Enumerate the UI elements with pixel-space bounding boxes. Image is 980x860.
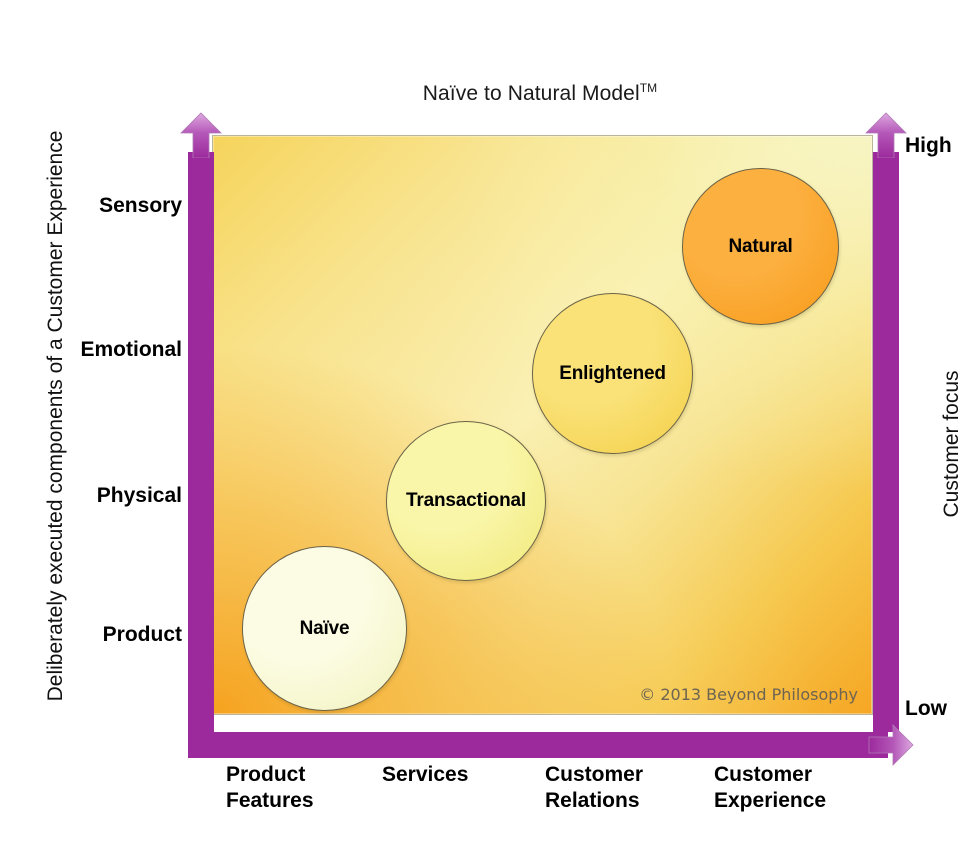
- x-axis-tick-label: ProductFeatures: [226, 762, 376, 814]
- right-axis-caption: Customer focus: [940, 254, 964, 634]
- bubble-label: Naïve: [300, 618, 350, 640]
- x-axis-tick-line: Customer: [714, 762, 899, 788]
- x-axis-tick-label: Services: [382, 762, 532, 788]
- right-axis-bar: [873, 152, 899, 732]
- bubble-nave[interactable]: Naïve: [242, 546, 407, 711]
- y-axis-arrow-up-icon: [180, 112, 222, 158]
- x-axis-tick-line: Product: [226, 762, 376, 788]
- x-axis-tick-labels: ProductFeaturesServicesCustomerRelations…: [212, 762, 892, 832]
- bubble-enlightened[interactable]: Enlightened: [532, 293, 693, 454]
- bubble-label: Transactional: [406, 490, 526, 512]
- bubble-label: Enlightened: [559, 363, 666, 385]
- right-axis-arrow-up-icon: [865, 112, 907, 158]
- page-title: Naïve to Natural ModelTM: [280, 82, 800, 106]
- x-axis-tick-line: Relations: [545, 788, 715, 814]
- plot-area: NaïveTransactionalEnlightenedNatural © 2…: [212, 135, 873, 715]
- y-axis-tick-label: Physical: [2, 484, 182, 508]
- y-axis-tick-label: Product: [2, 623, 182, 647]
- bubble-transactional[interactable]: Transactional: [386, 421, 546, 581]
- y-axis-tick-labels: SensoryEmotionalPhysicalProduct: [0, 0, 182, 860]
- x-axis-bar: [188, 732, 888, 758]
- x-axis-tick-line: Customer: [545, 762, 715, 788]
- bubble-natural[interactable]: Natural: [682, 168, 839, 325]
- x-axis-tick-label: CustomerRelations: [545, 762, 715, 814]
- chart-title-text: Naïve to Natural Model: [423, 82, 640, 105]
- x-axis-tick-line: Services: [382, 762, 532, 788]
- right-axis-high-label: High: [905, 134, 952, 158]
- y-axis-bar: [188, 152, 214, 732]
- bubble-label: Natural: [728, 236, 792, 258]
- y-axis-tick-label: Sensory: [2, 194, 182, 218]
- x-axis-arrow-right-icon: [868, 724, 914, 766]
- x-axis-tick-label: CustomerExperience: [714, 762, 899, 814]
- x-axis-tick-line: Features: [226, 788, 376, 814]
- right-axis-low-label: Low: [905, 697, 947, 721]
- trademark-mark: TM: [640, 81, 658, 95]
- x-axis-tick-line: Experience: [714, 788, 899, 814]
- copyright-notice: © 2013 Beyond Philosophy: [639, 685, 858, 704]
- chart-canvas: Naïve to Natural ModelTM Deliberately ex…: [0, 0, 980, 860]
- y-axis-tick-label: Emotional: [2, 338, 182, 362]
